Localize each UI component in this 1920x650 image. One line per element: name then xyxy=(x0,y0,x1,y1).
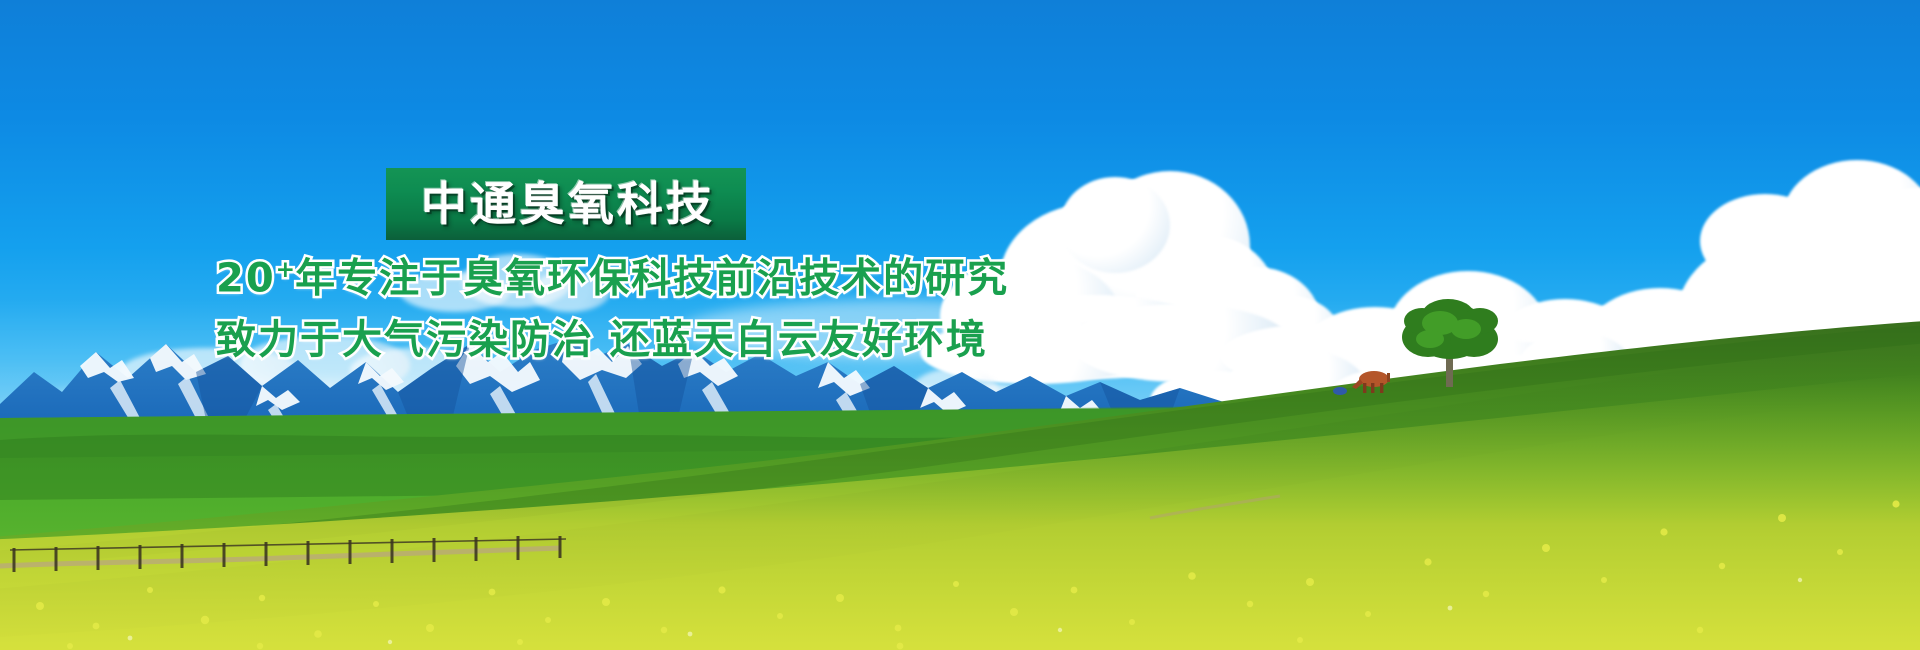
brand-title-text: 中通臭氧科技 xyxy=(417,181,715,227)
brand-title-plate: 中通臭氧科技 xyxy=(386,168,746,240)
hero-banner: 中通臭氧科技 20+年专注于臭氧环保科技前沿技术的研究 致力于大气污染防治 还蓝… xyxy=(0,0,1920,650)
banner-text-block: 中通臭氧科技 20+年专注于臭氧环保科技前沿技术的研究 致力于大气污染防治 还蓝… xyxy=(0,0,1920,650)
tagline-2-text: 致力于大气污染防治 还蓝天白云友好环境 xyxy=(216,317,988,363)
tagline-line-1: 20+年专注于臭氧环保科技前沿技术的研究 xyxy=(216,258,1009,298)
tagline-line-2: 致力于大气污染防治 还蓝天白云友好环境 xyxy=(216,320,988,360)
tagline-1-text: 年专注于臭氧环保科技前沿技术的研究 xyxy=(295,255,1009,301)
tagline-1-number: 20 xyxy=(216,255,276,301)
tagline-1-superscript: + xyxy=(276,256,295,283)
